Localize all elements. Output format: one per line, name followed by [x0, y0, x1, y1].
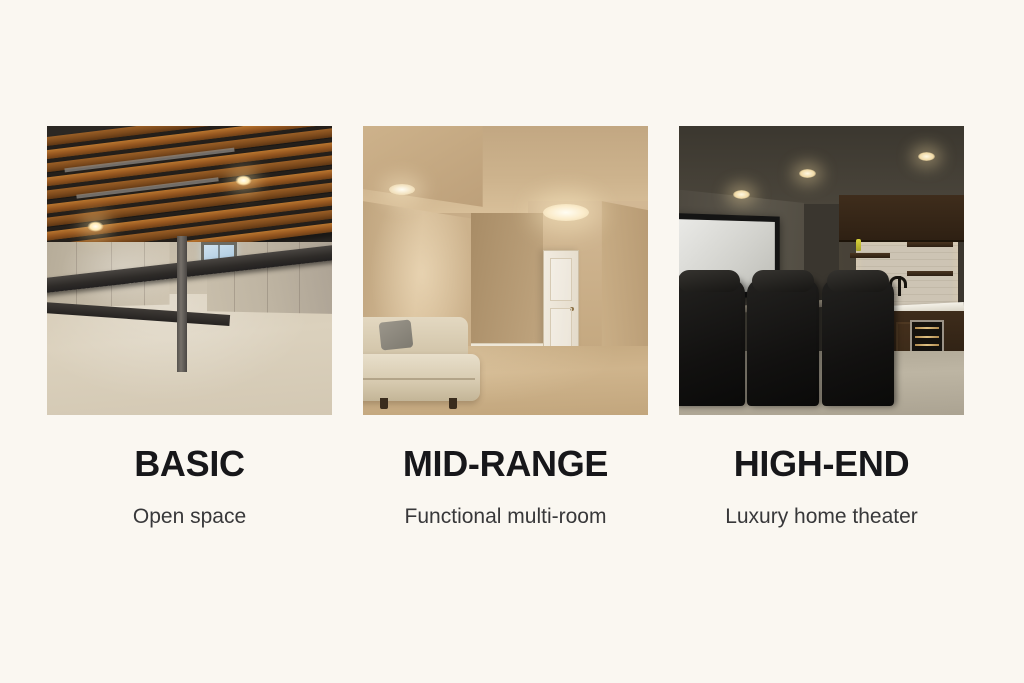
basement-photo-basic[interactable] — [47, 126, 332, 415]
flush-mount-light — [543, 204, 589, 221]
basement-photo-high-end[interactable] — [679, 126, 964, 415]
accent-pillow — [379, 319, 414, 350]
floating-shelf-3 — [850, 253, 890, 258]
recessed-light — [389, 184, 415, 195]
sofa-chaise — [363, 354, 480, 400]
door-knob — [570, 307, 574, 311]
leather-recliner-2 — [747, 279, 819, 406]
comparison-page: BASIC Open space — [0, 0, 1024, 683]
right-wall — [597, 201, 648, 351]
bar-bottle — [856, 239, 861, 251]
tier-card-basic[interactable]: BASIC Open space — [47, 126, 332, 527]
basement-photo-mid-range[interactable] — [363, 126, 648, 415]
tier-title: HIGH-END — [679, 446, 964, 482]
sofa-foot-left — [380, 398, 388, 409]
tier-card-high-end[interactable]: HIGH-END Luxury home theater — [679, 126, 964, 527]
floating-shelf-2 — [907, 271, 953, 276]
theater-ceiling — [679, 126, 964, 204]
tier-title: MID-RANGE — [363, 446, 648, 482]
leather-recliner-1 — [679, 279, 745, 406]
caption-mid-range: MID-RANGE Functional multi-room — [363, 446, 648, 527]
upper-cabinets — [839, 195, 964, 241]
tier-subtitle: Functional multi-room — [363, 506, 648, 527]
bar-faucet — [898, 276, 901, 296]
white-panel-door — [543, 250, 579, 360]
tier-subtitle: Open space — [47, 506, 332, 527]
floating-shelf-1 — [907, 242, 953, 247]
tier-title: BASIC — [47, 446, 332, 482]
sofa-foot-right — [449, 398, 457, 409]
caption-basic: BASIC Open space — [47, 446, 332, 527]
leather-recliner-3 — [822, 279, 894, 406]
hallway-alcove — [471, 213, 542, 358]
tier-card-mid-range[interactable]: MID-RANGE Functional multi-room — [363, 126, 648, 527]
caption-high-end: HIGH-END Luxury home theater — [679, 446, 964, 527]
support-column — [177, 236, 187, 372]
recessed-light-1 — [733, 190, 750, 199]
tier-subtitle: Luxury home theater — [679, 506, 964, 527]
tier-grid: BASIC Open space — [47, 126, 974, 527]
